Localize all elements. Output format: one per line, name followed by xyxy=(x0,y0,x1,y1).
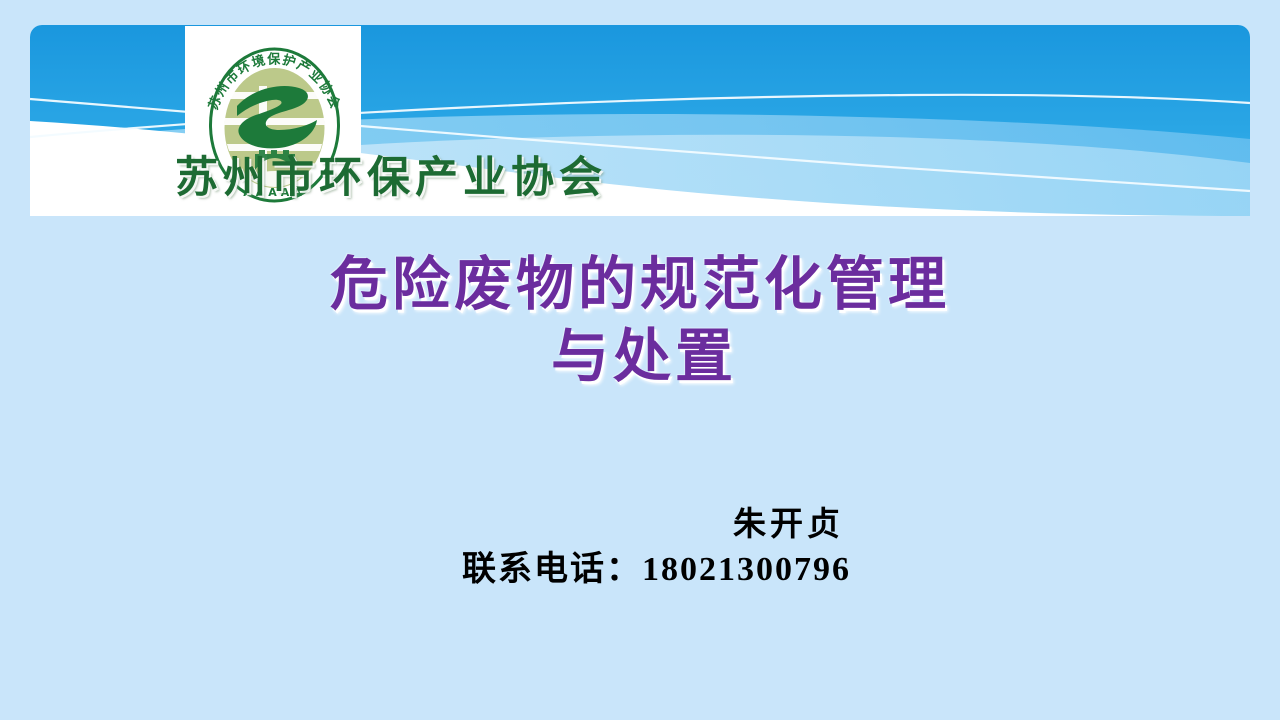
title-line-1: 危险废物的规范化管理 xyxy=(0,248,1280,320)
presenter-phone: 联系电话：18021300796 xyxy=(0,547,1280,593)
presenter-name: 朱开贞 xyxy=(0,503,1280,547)
page-title: 危险废物的规范化管理 与处置 xyxy=(0,248,1280,392)
title-line-2: 与处置 xyxy=(0,320,1280,392)
presenter-block: 朱开贞 联系电话：18021300796 xyxy=(0,503,1280,593)
presentation-slide: 苏州市环境保护产业协会 AAAAA 苏州市环保产业协会 危险废物的规范化管理 与… xyxy=(0,0,1280,720)
association-name: 苏州市环保产业协会 xyxy=(175,152,655,204)
